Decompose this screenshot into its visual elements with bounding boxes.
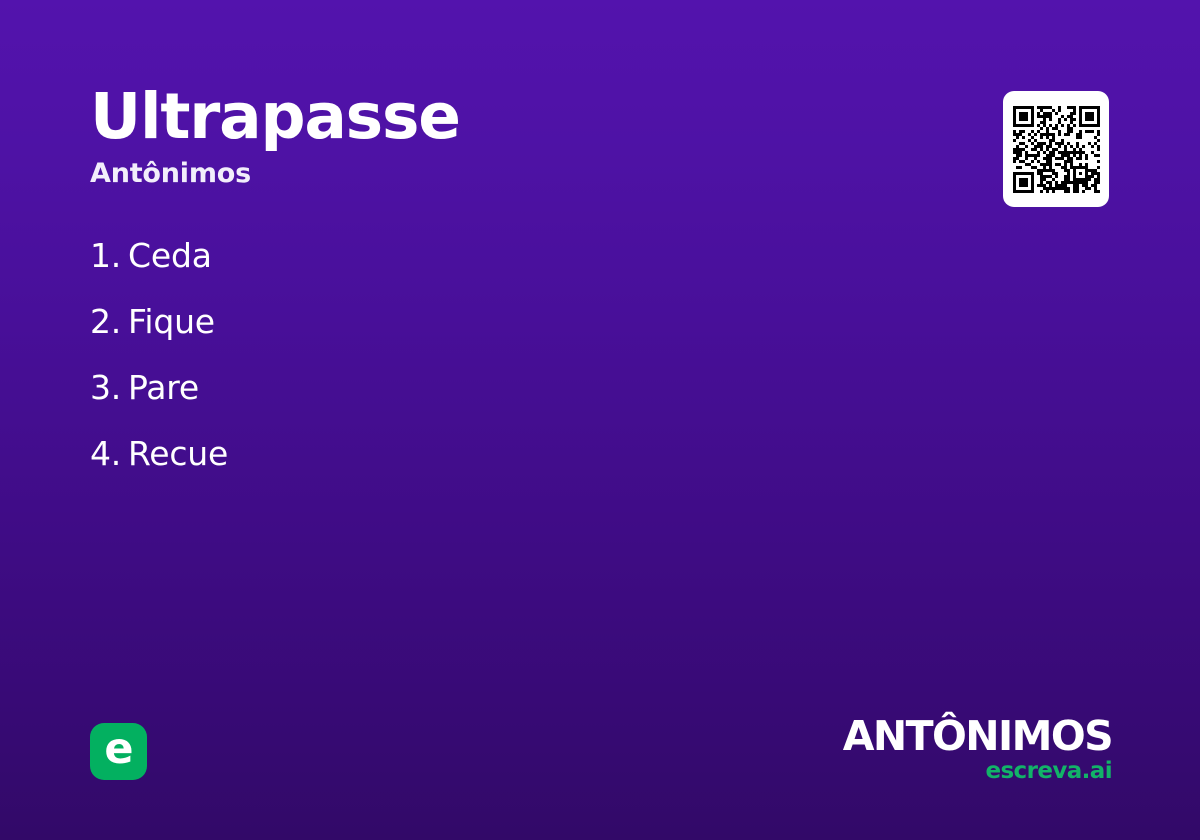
list-item: 3.Pare — [90, 368, 930, 434]
brand-site: escreva.ai — [843, 760, 1112, 783]
list-item-number: 4. — [90, 434, 128, 473]
list-item: 2.Fique — [90, 302, 930, 368]
heading-block: Ultrapasse Antônimos — [90, 84, 910, 188]
list-item-number: 1. — [90, 236, 128, 275]
list-item: 4.Recue — [90, 434, 930, 500]
brand-name: ANTÔNIMOS — [843, 716, 1112, 757]
escreva-e-icon: e — [104, 728, 132, 771]
list-item-word: Pare — [128, 368, 199, 407]
list-item-number: 3. — [90, 368, 128, 407]
page-title: Ultrapasse — [90, 84, 910, 151]
antonyms-card: Ultrapasse Antônimos 1.Ceda 2.Fique 3.Pa… — [0, 0, 1200, 840]
antonyms-list: 1.Ceda 2.Fique 3.Pare 4.Recue — [90, 236, 930, 500]
list-item-word: Ceda — [128, 236, 212, 275]
list-item-word: Recue — [128, 434, 228, 473]
list-item-number: 2. — [90, 302, 128, 341]
escreva-app-badge[interactable]: e — [90, 723, 147, 780]
page-subtitle: Antônimos — [90, 159, 910, 189]
list-item: 1.Ceda — [90, 236, 930, 302]
brand-wordmark: ANTÔNIMOS escreva.ai — [843, 716, 1112, 783]
qr-code-container[interactable] — [1003, 91, 1109, 207]
list-item-word: Fique — [128, 302, 215, 341]
qr-code-icon — [1013, 106, 1100, 193]
